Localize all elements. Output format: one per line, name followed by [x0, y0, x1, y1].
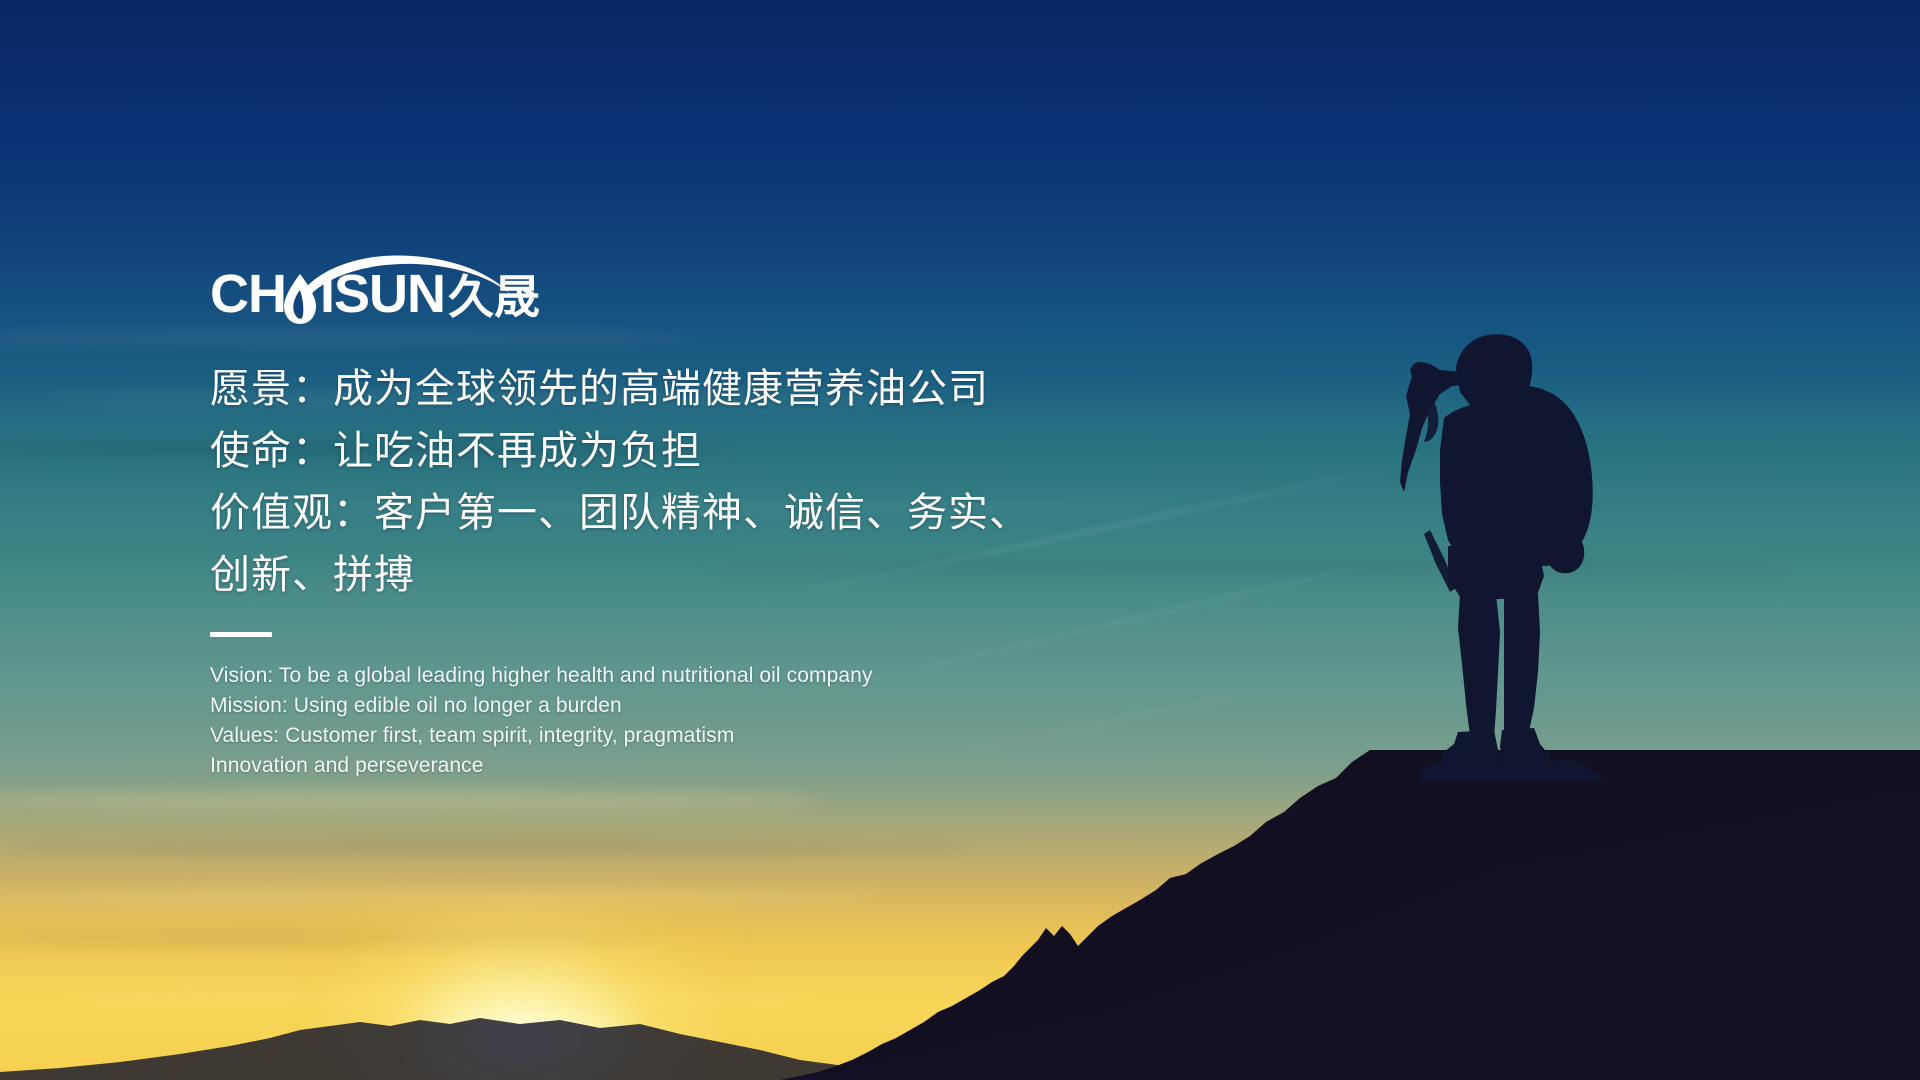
- mission-line-cn: 使命：让吃油不再成为负担: [210, 420, 1260, 482]
- statement-english: Vision: To be a global leading higher he…: [210, 661, 1260, 781]
- mission-line-en: Mission: Using edible oil no longer a bu…: [210, 691, 1260, 721]
- values-line-en-cont: Innovation and perseverance: [210, 751, 1260, 781]
- hiker-silhouette: [1378, 332, 1638, 782]
- statement-chinese: 愿景：成为全球领先的高端健康营养油公司 使命：让吃油不再成为负担 价值观：客户第…: [210, 358, 1260, 606]
- choisun-logo-mark: CH ISUN 久晟: [210, 250, 560, 330]
- values-line-cn: 价值观：客户第一、团队精神、诚信、务实、: [210, 482, 1260, 544]
- logo-cjk-text: 久晟: [448, 271, 540, 323]
- mountain-ridge-silhouette: [600, 750, 1920, 1080]
- svg-text:CH: CH: [210, 264, 286, 324]
- vision-line-cn: 愿景：成为全球领先的高端健康营养油公司: [210, 358, 1260, 420]
- values-line-cn-cont: 创新、拼搏: [210, 544, 1260, 606]
- water-drop-icon: [284, 274, 316, 324]
- content-block: CH ISUN 久晟 愿景：成为全球领先的高端健康营养油公司 使命：让吃油不再成…: [210, 250, 1260, 781]
- values-line-en: Values: Customer first, team spirit, int…: [210, 721, 1260, 751]
- vision-line-en: Vision: To be a global leading higher he…: [210, 661, 1260, 691]
- slide-canvas: CH ISUN 久晟 愿景：成为全球领先的高端健康营养油公司 使命：让吃油不再成…: [0, 0, 1920, 1080]
- svg-text:ISUN: ISUN: [320, 264, 445, 324]
- company-logo[interactable]: CH ISUN 久晟: [210, 250, 560, 330]
- section-divider: [210, 632, 272, 637]
